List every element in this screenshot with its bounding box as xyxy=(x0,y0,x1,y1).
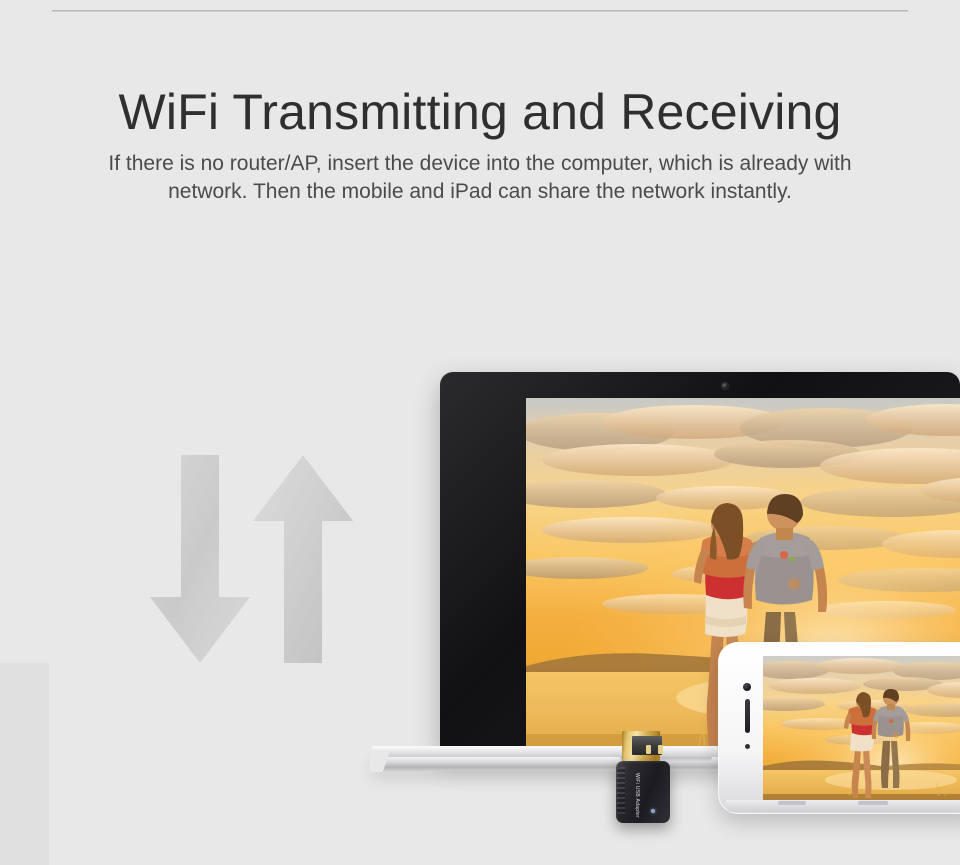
phone-screen xyxy=(763,656,960,800)
webcam-icon xyxy=(722,383,728,389)
phone-charging-port xyxy=(858,801,888,805)
front-camera-icon xyxy=(743,683,751,691)
dongle-grip-texture xyxy=(617,767,625,815)
smartphone-device xyxy=(718,642,960,814)
header-divider xyxy=(52,10,908,12)
corner-accent-block xyxy=(0,663,49,865)
phone-bottom-edge xyxy=(726,800,960,812)
usb-pin xyxy=(658,745,663,754)
arrow-up-icon xyxy=(253,455,353,663)
usb-pin xyxy=(646,745,651,754)
phone-speaker-grille xyxy=(778,801,806,805)
proximity-sensor-icon xyxy=(745,744,750,749)
status-led-icon xyxy=(651,809,655,813)
usb-contact-housing xyxy=(632,736,662,755)
earpiece-speaker xyxy=(745,699,750,733)
usb-wifi-adapter: WiFi USB Adapter xyxy=(616,731,676,823)
promo-page: WiFi Transmitting and Receiving If there… xyxy=(0,0,960,865)
arrow-down-icon xyxy=(150,455,250,663)
page-subtitle: If there is no router/AP, insert the dev… xyxy=(100,150,860,206)
dongle-body: WiFi USB Adapter xyxy=(616,761,670,823)
page-title: WiFi Transmitting and Receiving xyxy=(0,84,960,140)
laptop-left-taper xyxy=(370,752,410,772)
sunset-couple-photo xyxy=(763,656,960,800)
data-transfer-arrows xyxy=(148,455,358,667)
dongle-brand-label: WiFi USB Adapter xyxy=(634,773,640,818)
